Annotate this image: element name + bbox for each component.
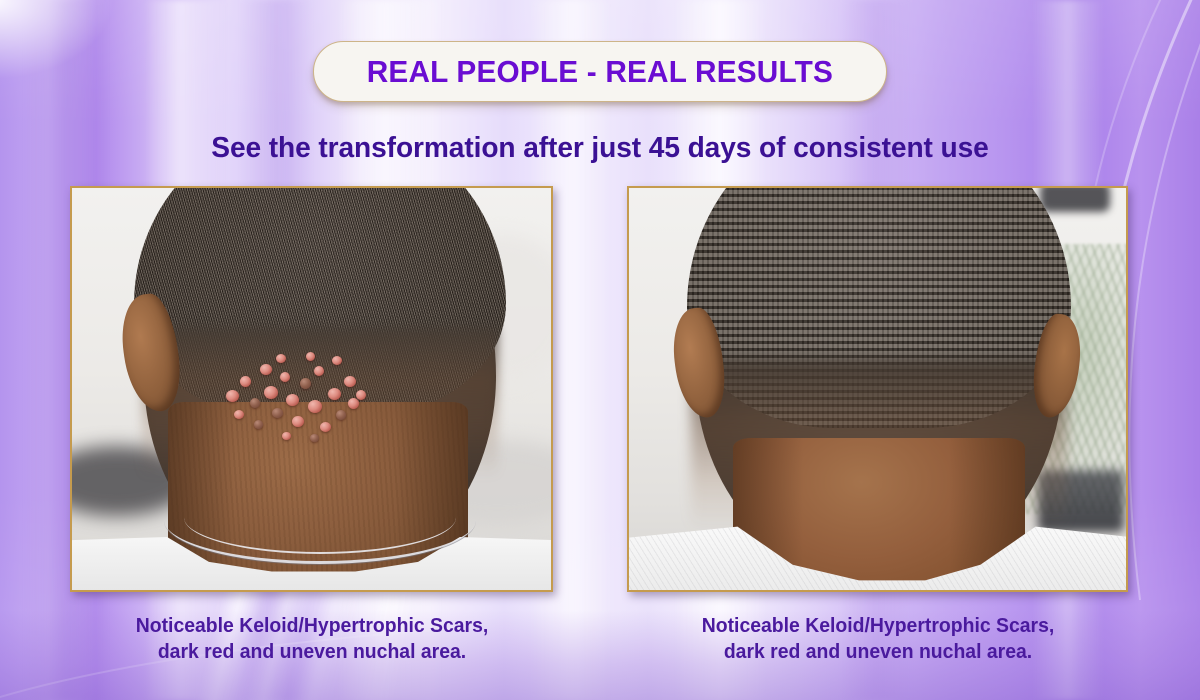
before-photo <box>72 188 551 590</box>
before-photo-panel <box>70 186 553 592</box>
after-photo <box>629 188 1126 590</box>
before-caption-line-1: Noticeable Keloid/Hypertrophic Scars, <box>66 614 559 640</box>
before-caption-line-2: dark red and uneven nuchal area. <box>66 640 559 666</box>
before-caption: Noticeable Keloid/Hypertrophic Scars, da… <box>66 614 559 665</box>
after-caption: Noticeable Keloid/Hypertrophic Scars, da… <box>628 614 1129 665</box>
after-photo-panel <box>627 186 1128 592</box>
headline-pill: REAL PEOPLE - REAL RESULTS <box>313 41 887 102</box>
promo-banner: REAL PEOPLE - REAL RESULTS See the trans… <box>0 0 1200 700</box>
headline-text: REAL PEOPLE - REAL RESULTS <box>367 54 833 90</box>
keloid-scar-cluster <box>220 346 370 456</box>
background-dark-object-top <box>1040 188 1110 212</box>
subheadline-text: See the transformation after just 45 day… <box>18 132 1182 165</box>
background-corner-glow <box>0 0 130 90</box>
after-caption-line-2: dark red and uneven nuchal area. <box>628 640 1129 666</box>
after-caption-line-1: Noticeable Keloid/Hypertrophic Scars, <box>628 614 1129 640</box>
